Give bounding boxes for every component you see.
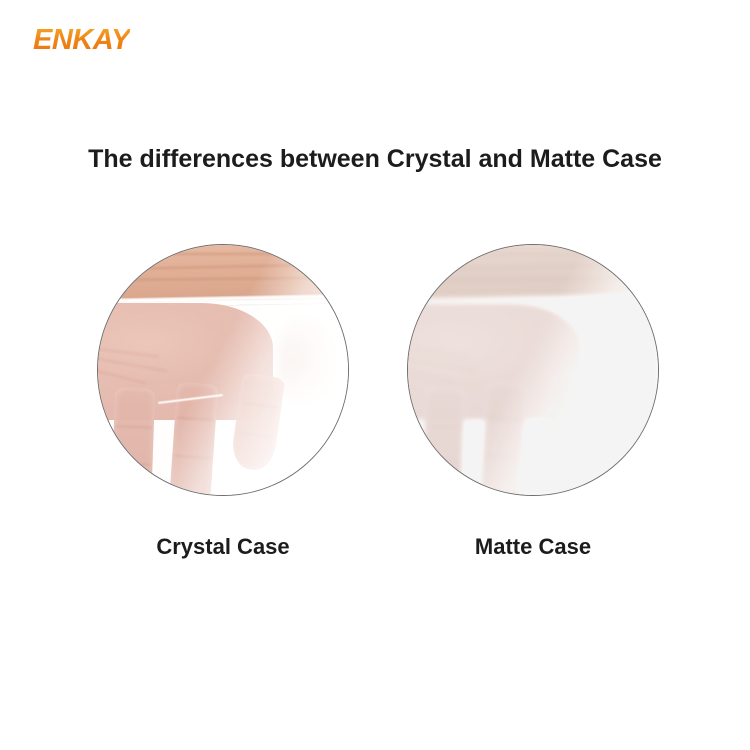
hand-photo-matte — [408, 245, 658, 495]
hand-photo-crystal — [98, 245, 348, 495]
caption-crystal-case: Crystal Case — [97, 534, 349, 560]
wrist-region — [97, 244, 349, 300]
wrist-region — [407, 244, 659, 300]
palm-crease — [97, 344, 159, 357]
page-title: The differences between Crystal and Matt… — [0, 145, 750, 174]
comparison-item-crystal: Crystal Case — [97, 244, 349, 496]
matte-case-photo — [407, 244, 659, 496]
wrist-crease — [97, 263, 349, 271]
product-comparison-page: ENKAY The differences between Crystal an… — [0, 0, 750, 750]
palm-crease — [407, 344, 469, 357]
wrist-crease — [407, 253, 659, 255]
comparison-item-matte: Matte Case — [407, 244, 659, 496]
finger — [421, 387, 465, 496]
enkay-brand-logo: ENKAY — [33, 26, 130, 55]
wrist-crease — [407, 263, 659, 271]
finger — [111, 387, 155, 496]
caption-matte-case: Matte Case — [407, 534, 659, 560]
comparison-area: Crystal Case — [0, 244, 750, 584]
wrist-crease — [97, 276, 349, 281]
wrist-crease — [407, 276, 659, 281]
finger — [479, 381, 529, 496]
wrist-crease — [97, 253, 349, 255]
palm-shadow — [278, 310, 349, 420]
palm-shadow — [588, 310, 659, 420]
crystal-case-photo — [97, 244, 349, 496]
